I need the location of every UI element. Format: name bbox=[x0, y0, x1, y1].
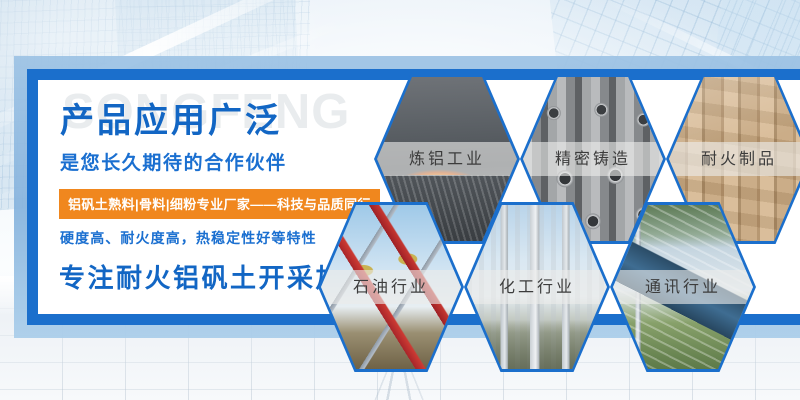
hex-label: 石油行业 bbox=[321, 270, 461, 304]
hex-label: 耐火制品 bbox=[669, 142, 800, 176]
hex-label: 炼铝工业 bbox=[377, 142, 517, 176]
promotional-banner: SONGFENG 产品应用广泛 是您长久期待的合作伙伴 铝矾土熟料|骨料|细粉专… bbox=[0, 0, 800, 400]
application-hexagon-grid: 炼铝工业 精密铸造 耐火制品 石油行业 化工行业 bbox=[0, 0, 800, 400]
hex-label: 化工行业 bbox=[467, 270, 607, 304]
hex-label: 精密铸造 bbox=[523, 142, 663, 176]
hex-label: 通讯行业 bbox=[613, 270, 753, 304]
